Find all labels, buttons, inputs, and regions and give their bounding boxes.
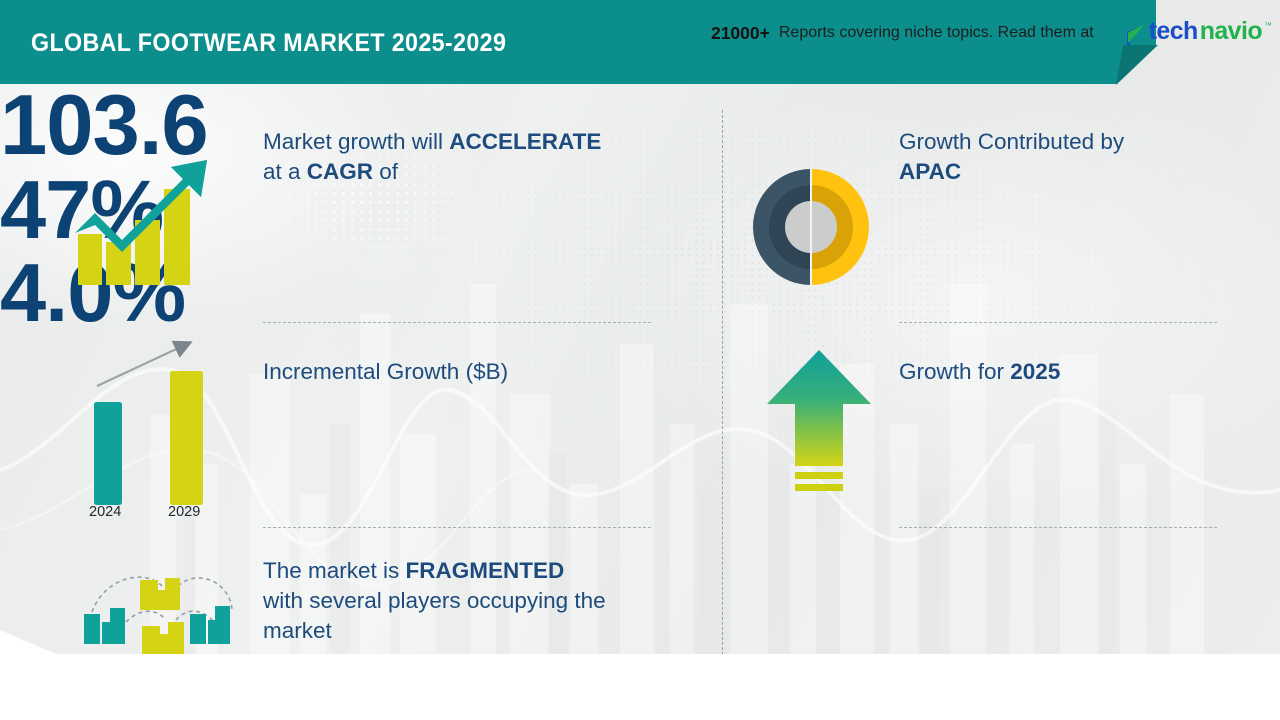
bar-comparison-icon: 2024 2029	[75, 330, 225, 520]
bar-2024	[94, 402, 122, 505]
fragmented-caption: The market is FRAGMENTED with several pl…	[263, 556, 673, 646]
donut-chart-icon	[749, 165, 873, 289]
cagr-caption-line2-pre: at a	[263, 159, 307, 184]
apac-caption-line1: Growth Contributed by	[899, 127, 1124, 157]
cagr-caption-pre: Market growth will	[263, 129, 449, 154]
footer-report-count: 21000+	[711, 23, 770, 44]
fragmented-caption-line3: market	[263, 616, 673, 646]
technavio-logo-tech: tech	[1149, 19, 1198, 44]
technavio-logo-tm: ™	[1264, 21, 1272, 30]
cagr-caption-line2-post: of	[373, 159, 398, 184]
infographic-canvas: GLOBAL FOOTWEAR MARKET 2025-2029 2024	[0, 0, 1280, 720]
cagr-caption: Market growth will ACCELERATE at a CAGR …	[263, 127, 601, 187]
fragmented-caption-line2: with several players occupying the	[263, 586, 673, 616]
gradient-up-arrow-icon	[765, 348, 873, 500]
bar-label-2029: 2029	[168, 504, 200, 520]
footer-tagline: Reports covering niche topics. Read them…	[779, 24, 1094, 42]
divider-right-1	[899, 322, 1217, 323]
cagr-caption-emphasis: ACCELERATE	[449, 129, 601, 154]
growth-chart-arrow-icon	[75, 142, 225, 287]
technavio-logo-navio: navio	[1200, 19, 1262, 44]
technavio-flag-icon	[1121, 21, 1147, 47]
technavio-logo[interactable]: tech navio ™	[1121, 19, 1272, 47]
fragmented-caption-emphasis: FRAGMENTED	[406, 558, 565, 583]
footer-content: 21000+ Reports covering niche topics. Re…	[711, 16, 1272, 50]
vertical-divider	[722, 110, 723, 660]
city-network-icon	[70, 556, 250, 662]
fragmented-caption-pre: The market is	[263, 558, 406, 583]
bar-2029	[170, 371, 203, 505]
page-title: GLOBAL FOOTWEAR MARKET 2025-2029	[31, 29, 506, 58]
growth-2025-caption-pre: Growth for	[899, 359, 1010, 384]
apac-caption-emphasis: APAC	[899, 159, 961, 184]
apac-caption: Growth Contributed by APAC	[899, 127, 1124, 187]
growth-2025-caption: Growth for 2025	[899, 357, 1060, 387]
divider-right-2	[899, 527, 1217, 528]
bar-label-2024: 2024	[89, 504, 121, 520]
divider-left-1	[263, 322, 651, 323]
incremental-growth-label: Incremental Growth ($B)	[263, 357, 508, 387]
cagr-caption-line2-emphasis: CAGR	[307, 159, 373, 184]
divider-left-2	[263, 527, 651, 528]
footer-bar	[0, 654, 1280, 720]
growth-2025-caption-emphasis: 2025	[1010, 359, 1060, 384]
